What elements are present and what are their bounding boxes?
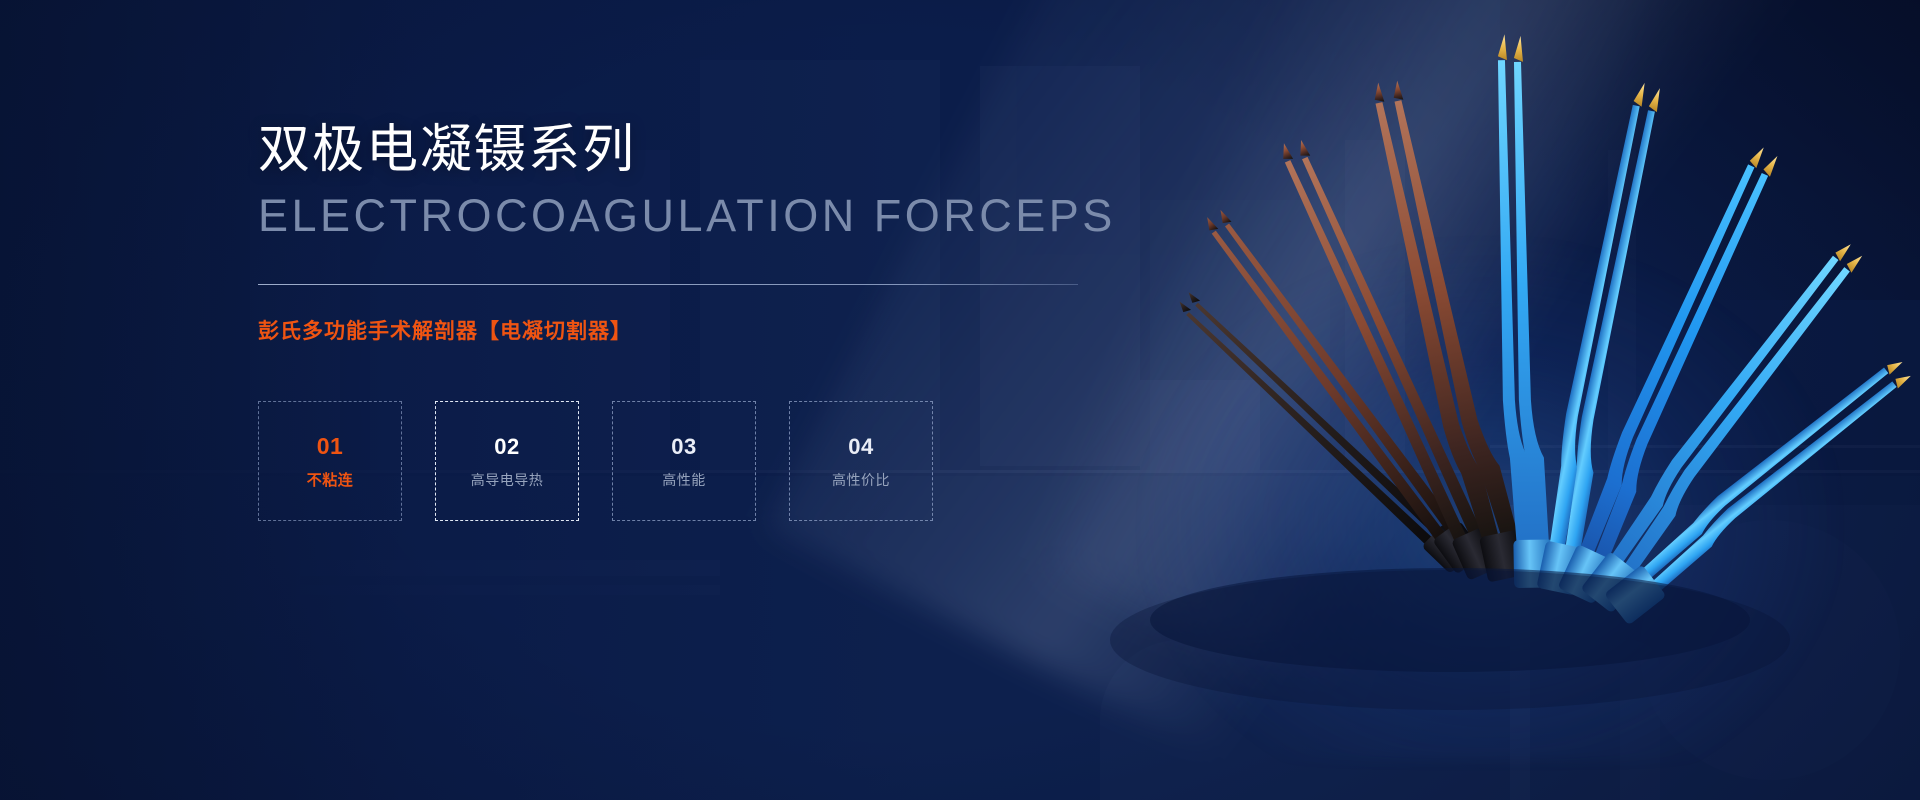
feature-item-01[interactable]: 01 不粘连 [258,401,402,521]
page-title-chinese: 双极电凝镊系列 [258,120,1098,181]
feature-label: 高性能 [662,473,706,487]
forceps-group-bronze [1174,73,1530,585]
forceps-group-blue [1497,33,1920,625]
product-banner: 双极电凝镊系列 ELECTROCOAGULATION FORCEPS 彭氏多功能… [0,0,1920,800]
feature-label: 高导电导热 [471,473,544,487]
feature-number: 04 [848,436,873,458]
feature-item-04[interactable]: 04 高性价比 [789,401,933,521]
forceps-fan-artwork [1020,0,1920,800]
title-divider [258,284,1078,285]
banner-content: 双极电凝镊系列 ELECTROCOAGULATION FORCEPS 彭氏多功能… [258,120,1098,521]
feature-label: 不粘连 [307,473,354,488]
feature-item-02[interactable]: 02 高导电导热 [435,401,579,521]
page-title-english: ELECTROCOAGULATION FORCEPS [258,191,1098,241]
feature-item-03[interactable]: 03 高性能 [612,401,756,521]
feature-label: 高性价比 [832,473,890,487]
forceps-fan-svg [1020,0,1920,800]
feature-list: 01 不粘连 02 高导电导热 03 高性能 04 高性价比 [258,401,1098,521]
feature-number: 02 [494,436,519,458]
feature-number: 01 [317,435,344,458]
feature-number: 03 [671,436,696,458]
product-subtitle: 彭氏多功能手术解剖器【电凝切割器】 [258,318,1098,345]
